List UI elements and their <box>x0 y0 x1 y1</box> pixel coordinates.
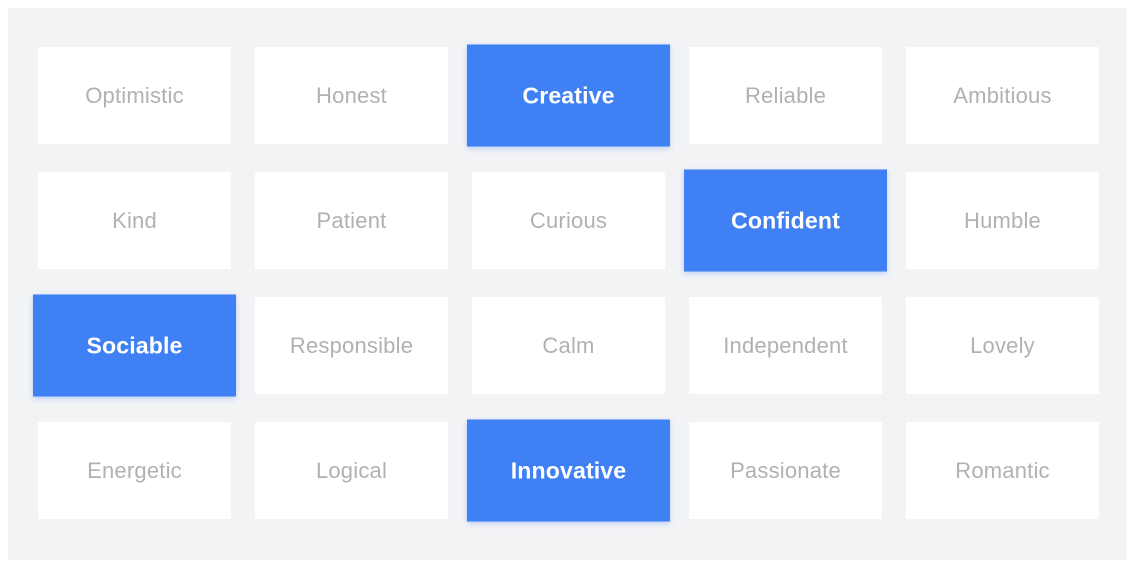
trait-card-label: Energetic <box>87 460 182 482</box>
trait-card[interactable]: Innovative <box>467 419 670 521</box>
trait-card[interactable]: Humble <box>906 172 1099 269</box>
trait-card-label: Calm <box>542 335 594 357</box>
trait-card-label: Romantic <box>955 460 1050 482</box>
trait-card-label: Sociable <box>86 334 182 357</box>
trait-card-label: Ambitious <box>953 85 1051 107</box>
trait-card-label: Independent <box>723 335 848 357</box>
trait-card[interactable]: Curious <box>472 172 665 269</box>
trait-card[interactable]: Logical <box>255 422 448 519</box>
trait-card[interactable]: Romantic <box>906 422 1099 519</box>
trait-card[interactable]: Passionate <box>689 422 882 519</box>
trait-card[interactable]: Energetic <box>38 422 231 519</box>
trait-card[interactable]: Optimistic <box>38 47 231 144</box>
trait-card[interactable]: Lovely <box>906 297 1099 394</box>
trait-card-label: Creative <box>522 84 614 107</box>
trait-card[interactable]: Reliable <box>689 47 882 144</box>
trait-card-label: Optimistic <box>85 85 184 107</box>
trait-card-label: Responsible <box>290 335 413 357</box>
trait-card-label: Logical <box>316 460 387 482</box>
trait-card-label: Kind <box>112 210 157 232</box>
trait-card[interactable]: Responsible <box>255 297 448 394</box>
trait-card[interactable]: Honest <box>255 47 448 144</box>
trait-card-label: Passionate <box>730 460 841 482</box>
trait-card[interactable]: Sociable <box>33 294 236 396</box>
trait-grid: OptimisticHonestCreativeReliableAmbitiou… <box>38 47 1097 519</box>
trait-card[interactable]: Independent <box>689 297 882 394</box>
trait-card[interactable]: Patient <box>255 172 448 269</box>
trait-selector-panel: OptimisticHonestCreativeReliableAmbitiou… <box>8 8 1127 560</box>
trait-card-label: Innovative <box>511 459 627 482</box>
trait-card-label: Patient <box>317 210 387 232</box>
trait-card-label: Curious <box>530 210 607 232</box>
trait-card-label: Reliable <box>745 85 826 107</box>
trait-card[interactable]: Calm <box>472 297 665 394</box>
trait-card-label: Humble <box>964 210 1041 232</box>
trait-card[interactable]: Kind <box>38 172 231 269</box>
trait-card-label: Lovely <box>970 335 1035 357</box>
trait-card-label: Honest <box>316 85 387 107</box>
trait-card-label: Confident <box>731 209 840 232</box>
trait-card[interactable]: Ambitious <box>906 47 1099 144</box>
trait-card[interactable]: Creative <box>467 44 670 146</box>
trait-card[interactable]: Confident <box>684 169 887 271</box>
